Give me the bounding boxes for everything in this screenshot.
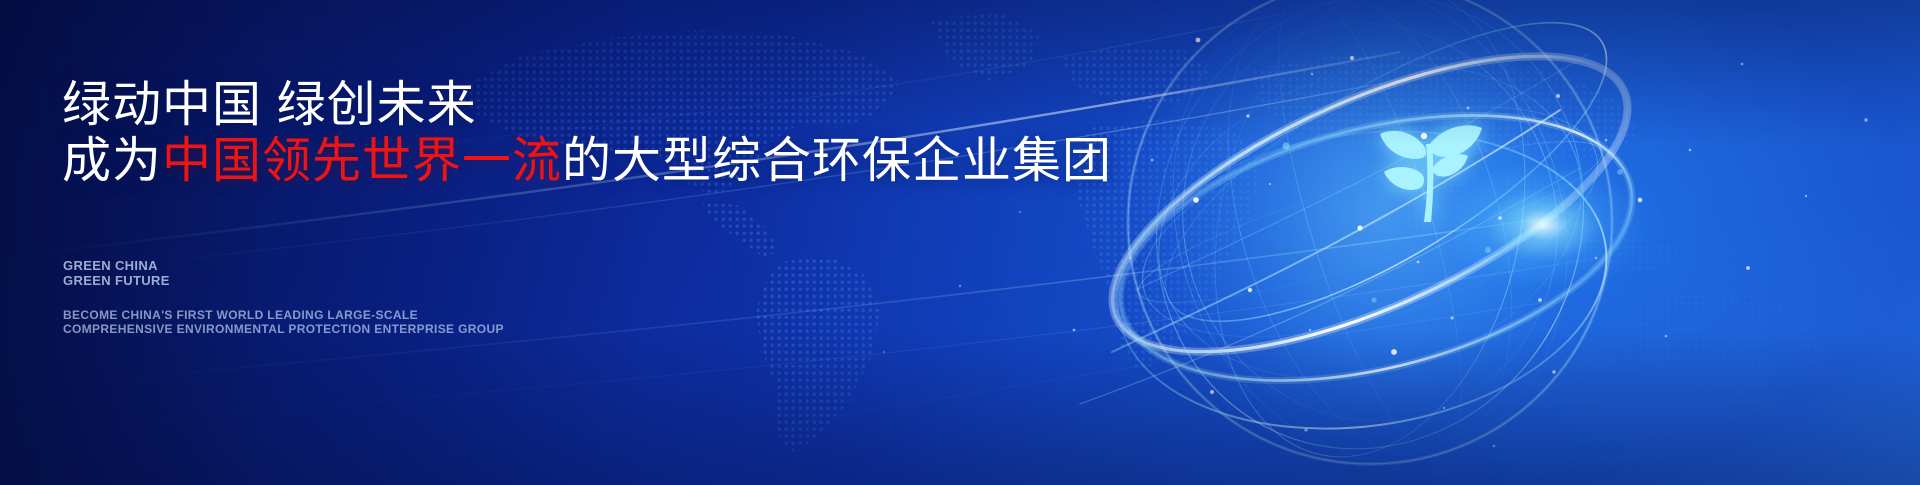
headline-line-1-text: 绿动中国 绿创未来 xyxy=(62,78,477,132)
green-sprout-icon xyxy=(1368,104,1488,224)
banner-copy: 绿动中国 绿创未来 成为中国领先世界一流的大型综合环保企业集团 GREEN CH… xyxy=(62,0,1042,485)
tagline-en: GREEN CHINA GREEN FUTURE xyxy=(63,258,170,288)
headline-prefix: 成为 xyxy=(62,134,162,188)
globe-glow xyxy=(1140,0,1620,460)
headline-line-2: 成为中国领先世界一流的大型综合环保企业集团 xyxy=(62,132,1112,190)
headline-line-1: 绿动中国 绿创未来 xyxy=(62,76,477,134)
subtitle-en-line-2: COMPREHENSIVE ENVIRONMENTAL PROTECTION E… xyxy=(63,322,504,336)
glowing-wireframe-globe xyxy=(1040,0,1680,485)
subtitle-en-line-1: BECOME CHINA'S FIRST WORLD LEADING LARGE… xyxy=(63,308,504,322)
globe-core-flare xyxy=(1455,150,1665,300)
headline-suffix: 的大型综合环保企业集团 xyxy=(562,134,1112,188)
hero-banner: 绿动中国 绿创未来 成为中国领先世界一流的大型综合环保企业集团 GREEN CH… xyxy=(0,0,1920,485)
subtitle-en: BECOME CHINA'S FIRST WORLD LEADING LARGE… xyxy=(63,308,504,336)
tagline-en-line-2: GREEN FUTURE xyxy=(63,273,170,288)
headline-highlight: 中国领先世界一流 xyxy=(162,134,562,188)
tagline-en-line-1: GREEN CHINA xyxy=(63,258,170,273)
